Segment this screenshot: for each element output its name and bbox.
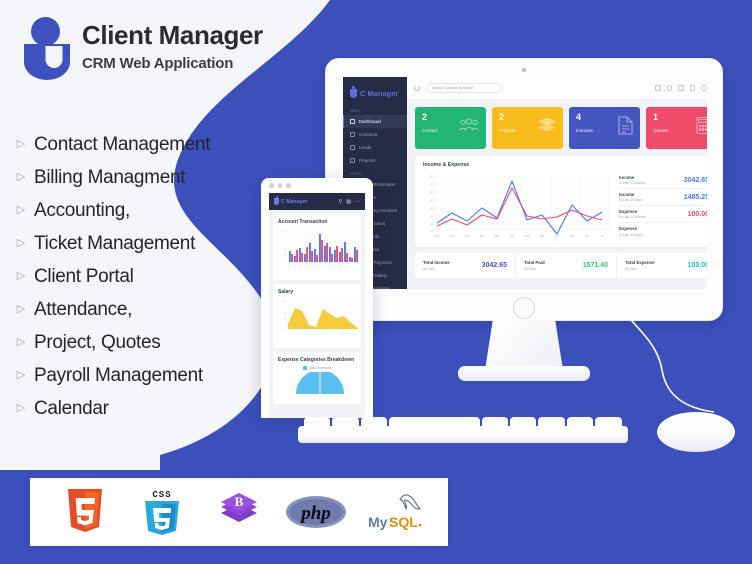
total-label: Total Income [423,260,450,265]
feature-label: Calendar [34,398,109,420]
legend-name: Income [619,192,643,197]
more-icon[interactable]: ⋯ [355,199,360,205]
tech-stack-strip: CSS B php My [30,478,448,546]
legend-name: Expense [619,209,646,214]
svg-text:Jan: Jan [510,235,515,238]
svg-text:My: My [368,514,388,530]
svg-text:Feb: Feb [525,235,530,238]
sidebar-section-caption: Main [343,104,407,115]
expense-pie-chart [278,372,356,399]
sidebar-item-label: Contacts [359,132,377,137]
svg-text:Sep: Sep [328,264,332,268]
svg-text:Jun: Jun [313,264,316,267]
svg-text:40: 40 [430,207,433,211]
salary-area-chart: 605040 302010 Jan Feb Mar Apr May Jun [278,298,356,343]
legend-value: 100.00 [688,211,707,218]
search-input[interactable]: Search Contact by Name [426,83,502,93]
svg-text:80: 80 [430,175,433,179]
feature-label: Contact Management [34,134,210,156]
svg-text:60: 60 [284,231,286,233]
phone-mockup: C Manager ⚲ ▤ ⋯ Account Transaction [261,178,373,418]
svg-text:php: php [299,503,331,524]
legend-period: In Last 30 Days [619,198,643,202]
totals-row: Total Income All Time 3042.65 Total Paid… [415,253,707,278]
sidebar-item-label: Dashboard [359,119,381,124]
svg-text:70: 70 [430,183,433,187]
svg-text:Jan: Jan [289,332,292,335]
monitor-screen: C Manager Main Dashboard Contacts [343,77,707,289]
stat-card-projects[interactable]: 2 Projects [492,107,563,149]
mysql-icon: My SQL [360,486,426,538]
svg-text:Apr: Apr [555,235,559,238]
svg-text:Aug: Aug [323,263,327,267]
legend-value: 1485.25 [684,194,707,201]
svg-text:40: 40 [284,243,286,245]
svg-text:50: 50 [430,199,433,203]
phone-titlebar [261,178,373,193]
svg-text:May: May [308,264,312,268]
svg-text:Jan: Jan [288,264,291,267]
sidebar-item-projects[interactable]: Projects [343,154,407,167]
feature-label: Billing Managment [34,167,185,189]
svg-text:Jun: Jun [354,332,357,335]
triangle-right-icon: ▷ [14,370,28,381]
legend-period: In Last 12 Months [619,215,646,219]
total-value: 3042.65 [482,262,507,269]
legend-value: 3042.65 [684,177,707,184]
html5-icon [52,486,118,538]
dashboard-app: C Manager Main Dashboard Contacts [343,77,707,289]
people-icon [459,119,479,138]
chart-row: 8070 6050 4030 2010 AugSep [415,168,707,247]
panel-title: Income & Expense [415,156,707,168]
svg-text:30: 30 [430,215,433,219]
project-icon [350,158,355,163]
triangle-right-icon: ▷ [14,238,28,249]
sidebar-logo[interactable]: C Manager [343,82,407,104]
svg-text:Sep: Sep [450,235,455,238]
stat-card-invoices[interactable]: 4 Invoices [569,107,640,149]
svg-text:SQL: SQL [389,514,418,530]
triangle-right-icon: ▷ [14,172,28,183]
window-dot-icon [269,183,274,188]
income-expense-line-chart: 8070 6050 4030 2010 AugSep [423,172,613,240]
phone-screen: C Manager ⚲ ▤ ⋯ Account Transaction [269,193,365,418]
phone-action-group: ⚲ ▤ ⋯ [339,199,360,205]
menu-icon[interactable]: ▤ [346,199,351,205]
svg-text:Jul: Jul [600,235,604,238]
legend-row-expense-12m: Expense In Last 12 Months 100.00 [619,206,707,223]
svg-text:Apr: Apr [303,263,307,267]
svg-text:Nov: Nov [338,264,342,268]
legend-row-income-12m: Income In Last 12 Months 3042.65 [619,172,707,189]
triangle-right-icon: ▷ [14,271,28,282]
svg-text:30: 30 [284,319,286,321]
total-period: All Time [423,267,450,271]
svg-text:20: 20 [284,255,286,257]
sidebar-item-label: Projects [359,158,376,163]
svg-text:Mar: Mar [540,235,544,238]
grid-icon [350,119,355,124]
total-expense: Total Expense All Time 100.00 [617,253,707,278]
pie-legend: Utility expenses [278,366,356,370]
total-income: Total Income All Time 3042.65 [415,253,516,278]
c-letter-logo-icon [22,14,74,80]
c-letter-logo-icon [274,198,279,205]
sidebar-section-caption: Sales [343,167,407,178]
php-icon: php [283,486,349,538]
svg-text:20: 20 [430,223,433,227]
monitor-stand-neck [485,320,563,370]
svg-text:Dec: Dec [343,264,347,268]
total-value: 100.00 [688,262,707,269]
poster-stage: Client Manager CRM Web Application ▷ Con… [0,0,752,564]
keyboard [298,417,628,443]
svg-text:May: May [570,235,575,238]
income-expense-panel: Income & Expense [415,156,707,247]
monitor-body: C Manager Main Dashboard Contacts [325,58,723,321]
sidebar-item-label: Leads [359,145,372,150]
bootstrap-icon: B [206,486,272,538]
webcam-icon [522,68,526,72]
triangle-right-icon: ▷ [14,337,28,348]
stat-card-contact[interactable]: 2 Contact [415,107,486,149]
triangle-right-icon: ▷ [14,304,28,315]
svg-text:Jul: Jul [318,264,321,267]
document-icon [618,116,633,140]
sidebar-item-leads[interactable]: Leads [343,141,407,154]
svg-text:Mar: Mar [315,331,319,335]
calendar-icon[interactable] [690,85,696,91]
card-title: Salary [278,289,356,295]
feature-label: Accounting, [34,200,130,222]
total-value: 1571.40 [583,262,608,269]
triangle-right-icon: ▷ [14,139,28,150]
legend-period: In Last 30 Days [619,233,643,237]
legend-row-expense-30d: Expense In Last 30 Days [619,223,707,240]
card-title: Account Transaction [278,219,356,225]
income-expense-legend: Income In Last 12 Months 3042.65 Income [613,172,707,240]
sidebar-logo-label: C Manager [360,89,398,98]
total-paid: Total Paid All Time 1571.40 [516,253,617,278]
calculator-icon [696,117,707,140]
sidebar-item-contacts[interactable]: Contacts [343,128,407,141]
svg-text:50: 50 [284,307,286,309]
app-topbar: Search Contact by Name [407,77,707,100]
refresh-icon[interactable] [414,85,420,91]
file-icon[interactable] [655,85,661,91]
total-period: All Time [524,267,545,271]
mouse-cord [610,300,740,430]
contact-icon [350,132,355,137]
svg-text:50: 50 [284,237,286,239]
c-letter-logo-icon [350,89,357,98]
leads-icon [350,145,355,150]
layers-icon [538,118,556,139]
svg-text:10: 10 [284,329,286,331]
phone-card-account-transaction: Account Transaction 605040 302010 [273,214,361,280]
svg-text:60: 60 [430,191,433,195]
svg-text:30: 30 [284,249,286,251]
svg-text:Dec: Dec [495,235,500,238]
feature-label: Attendance, [34,299,132,321]
svg-text:40: 40 [284,313,286,315]
search-icon[interactable]: ⚲ [339,199,343,205]
svg-text:Oct: Oct [465,235,469,238]
phone-app-header: C Manager ⚲ ▤ ⋯ [269,193,365,210]
total-label: Total Expense [625,260,654,265]
legend-name: Expense [619,226,643,231]
svg-text:Feb: Feb [302,332,306,335]
page-title: Client Manager [82,22,263,49]
svg-text:Feb: Feb [293,264,297,267]
triangle-right-icon: ▷ [14,205,28,216]
monitor-home-button[interactable] [513,297,535,319]
topbar-icon-group [655,85,707,91]
feature-label: Client Portal [34,266,134,288]
total-period: All Time [625,267,654,271]
card-title: Expense Categories Breakdown [278,357,356,363]
legend-swatch-icon [303,366,307,370]
mouse [657,412,735,452]
gear-icon[interactable] [701,85,707,91]
brand-header: Client Manager CRM Web Application [22,14,263,80]
phone-card-expense-breakdown: Expense Categories Breakdown Utility exp… [273,352,361,404]
cloud-icon[interactable] [667,85,673,91]
css3-icon: CSS [129,486,195,538]
total-label: Total Paid [524,260,545,265]
svg-text:Oct: Oct [333,263,337,267]
page-subtitle: CRM Web Application [82,55,263,72]
sidebar-item-dashboard[interactable]: Dashboard [343,115,407,128]
legend-period: In Last 12 Months [619,181,646,185]
monitor-stand-base [458,366,590,381]
svg-text:Apr: Apr [328,331,332,335]
account-transaction-bar-chart: 605040 302010 [278,228,356,275]
svg-text:60: 60 [284,301,286,303]
stat-card-quotes[interactable]: 1 Quotes [646,107,707,149]
legend-row-income-30d: Income In Last 30 Days 1485.25 [619,189,707,206]
svg-text:Mar: Mar [298,263,302,267]
legend-name: Income [619,175,646,180]
legend-label: Utility expenses [309,366,331,370]
svg-text:Aug: Aug [435,235,440,238]
mobile-icon[interactable] [678,85,684,91]
keyboard-body [298,426,628,443]
svg-text:Nov: Nov [480,235,485,238]
window-dot-icon [286,183,291,188]
window-dot-icon [278,183,283,188]
feature-label: Project, Quotes [34,332,160,354]
svg-text:20: 20 [284,325,286,327]
svg-text:Jun: Jun [585,235,590,238]
app-main: Search Contact by Name [407,77,707,289]
svg-text:CSS: CSS [152,490,171,500]
svg-text:10: 10 [430,229,433,233]
svg-text:B: B [235,494,244,509]
triangle-right-icon: ▷ [14,403,28,414]
svg-text:10: 10 [284,261,286,263]
phone-logo-label: C Manager [281,199,308,205]
svg-text:May: May [341,332,345,336]
feature-label: Payroll Management [34,365,203,387]
stat-card-row: 2 Contact 2 [407,100,707,149]
phone-card-salary: Salary 605040 302010 [273,284,361,348]
feature-label: Ticket Management [34,233,195,255]
list-item: ▷ Contact Management [14,128,314,161]
